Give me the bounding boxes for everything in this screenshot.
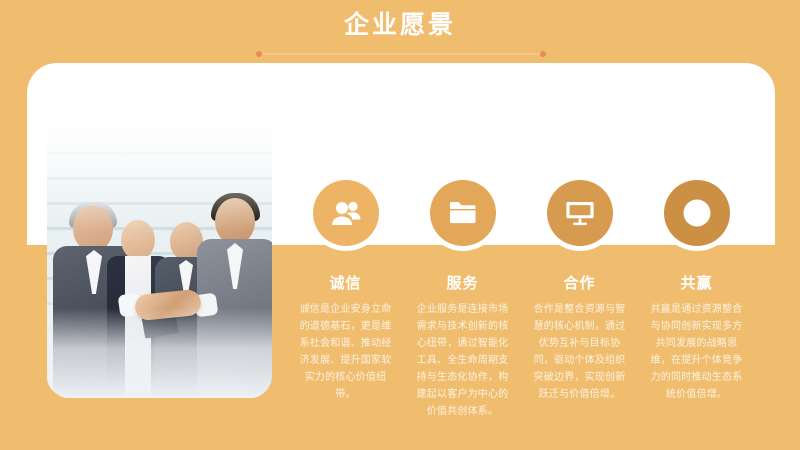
head-shape (215, 198, 255, 245)
folder-icon (448, 200, 478, 226)
pillar-icon-badge[interactable] (430, 180, 496, 246)
value-pillars: 诚信 诚信是企业安身立命的道德基石，更是维系社会和谐、推动经济发展、提升国家软实… (287, 180, 787, 430)
page-header: 企业愿景 (0, 8, 800, 42)
photo-scene (47, 80, 272, 398)
pillar-description: 诚信是企业安身立命的道德基石，更是维系社会和谐、推动经济发展、提升国家软实力的核… (287, 301, 404, 403)
pillar-title: 合作 (521, 272, 638, 293)
business-handshake-photo (47, 80, 272, 398)
divider-dot-left-icon (256, 51, 262, 57)
pillar-win-win[interactable]: 共赢 共赢是通过资源整合与协同创新实现多方共同发展的战略思维，在提升个体竞争力的… (638, 180, 755, 403)
pillar-icon-badge[interactable] (664, 180, 730, 246)
pillar-icon-badge[interactable] (547, 180, 613, 246)
clock-icon (681, 197, 713, 229)
pillar-integrity[interactable]: 诚信 诚信是企业安身立命的道德基石，更是维系社会和谐、推动经济发展、提升国家软实… (287, 180, 404, 403)
title-divider (257, 53, 545, 55)
pillar-service[interactable]: 服务 企业服务是连接市场需求与技术创新的核心纽带，通过智能化工具、全生命周期支持… (404, 180, 521, 420)
pillar-cooperation[interactable]: 合作 合作是整合资源与智慧的核心机制，通过优势互补与目标协同，驱动个体及组织突破… (521, 180, 638, 403)
pillar-description: 合作是整合资源与智慧的核心机制，通过优势互补与目标协同，驱动个体及组织突破边界，… (521, 301, 638, 403)
pillar-icon-badge[interactable] (313, 180, 379, 246)
pillar-description: 企业服务是连接市场需求与技术创新的核心纽带，通过智能化工具、全生命周期支持与生态… (404, 301, 521, 420)
divider-dot-right-icon (540, 51, 546, 57)
pillar-title: 诚信 (287, 272, 404, 293)
pillar-description: 共赢是通过资源整合与协同创新实现多方共同发展的战略思维，在提升个体竞争力的同时推… (638, 301, 755, 403)
pillar-title: 服务 (404, 272, 521, 293)
head-shape (121, 220, 155, 260)
monitor-icon (565, 200, 595, 227)
pillar-title: 共赢 (638, 272, 755, 293)
jacket-left-shape (107, 256, 125, 396)
page-title: 企业愿景 (0, 8, 800, 42)
users-icon (331, 200, 361, 226)
